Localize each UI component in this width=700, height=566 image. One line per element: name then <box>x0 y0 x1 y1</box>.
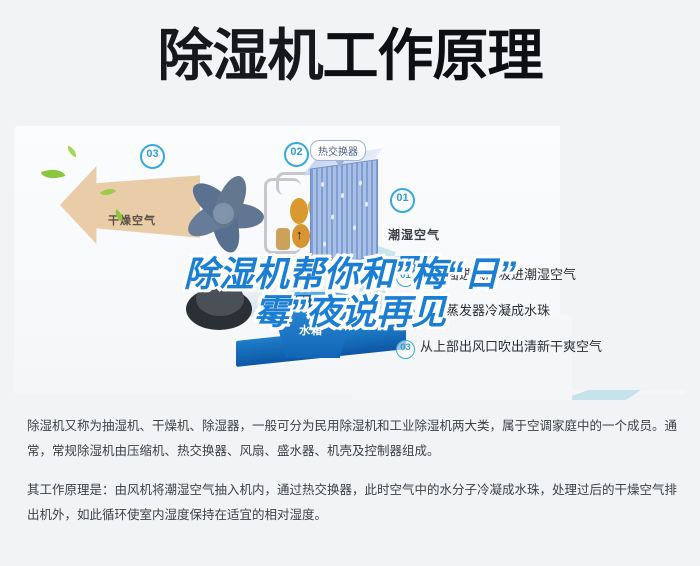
heat-exchanger-callout: 热交换器 <box>310 140 366 161</box>
body-paragraph-1: 除湿机又称为抽湿机、干燥机、除湿器，一般可分为民用除湿机和工业除湿机两大类，属于… <box>27 414 677 464</box>
step-caption-02: 02经过蒸发器冷凝成水珠 <box>396 300 550 323</box>
water-tank-label: 水箱 <box>299 322 323 338</box>
page-title-part2: 工作原理 <box>323 24 543 87</box>
heat-exchanger-illustration <box>310 159 376 264</box>
water-droplet-icon <box>323 241 326 246</box>
badge-step-03: 03 <box>140 144 165 169</box>
illustration-panel: 干燥空气 ➞ ↑ ↓ <box>0 120 700 400</box>
step-caption-03: 03从上部出风口吹出清新干爽空气 <box>396 336 602 359</box>
badge-step-02: 02 <box>284 142 309 167</box>
step-text-02: 经过蒸发器冷凝成水珠 <box>420 303 550 318</box>
water-droplet-icon <box>321 182 324 187</box>
step-text-01: 由侧面进风口吸进潮湿空气 <box>420 267 576 282</box>
step-number-01: 01 <box>396 268 415 287</box>
copper-coil <box>290 198 308 224</box>
water-tank-illustration: 水箱 <box>265 292 361 358</box>
body-paragraph-2: 其工作原理是：由风机将潮湿空气抽入机内，通过热交换器，此时空气中的水分子冷凝成水… <box>27 478 677 528</box>
water-droplet-icon <box>341 193 344 198</box>
water-droplet-icon <box>365 201 368 206</box>
water-droplet-icon <box>359 180 362 185</box>
page-root: 除湿机工作原理 干燥空气 <box>0 0 700 566</box>
page-title-part1: 除湿机 <box>158 24 323 87</box>
step-number-02: 02 <box>396 304 415 323</box>
badge-step-01: 01 <box>390 188 415 213</box>
heat-exchanger-fins <box>310 159 378 267</box>
copper-coil <box>276 228 290 250</box>
flow-arrow-up-icon: ↑ <box>296 228 303 241</box>
page-title: 除湿机工作原理 <box>0 28 700 84</box>
machine-base-inner <box>196 282 244 316</box>
body-copy: 除湿机又称为抽湿机、干燥机、除湿器，一般可分为民用除湿机和工业除湿机两大类，属于… <box>27 414 677 542</box>
water-droplet-icon <box>353 225 356 230</box>
step-caption-01: 01由侧面进风口吸进潮湿空气 <box>396 264 576 287</box>
water-tank-opening <box>275 295 351 307</box>
wet-air-label: 潮湿空气 <box>388 226 440 243</box>
step-text-03: 从上部出风口吹出清新干爽空气 <box>420 339 602 354</box>
fan-illustration <box>176 170 272 262</box>
fan-hub <box>213 203 234 224</box>
water-droplet-icon <box>331 214 334 219</box>
step-number-03: 03 <box>396 340 415 359</box>
